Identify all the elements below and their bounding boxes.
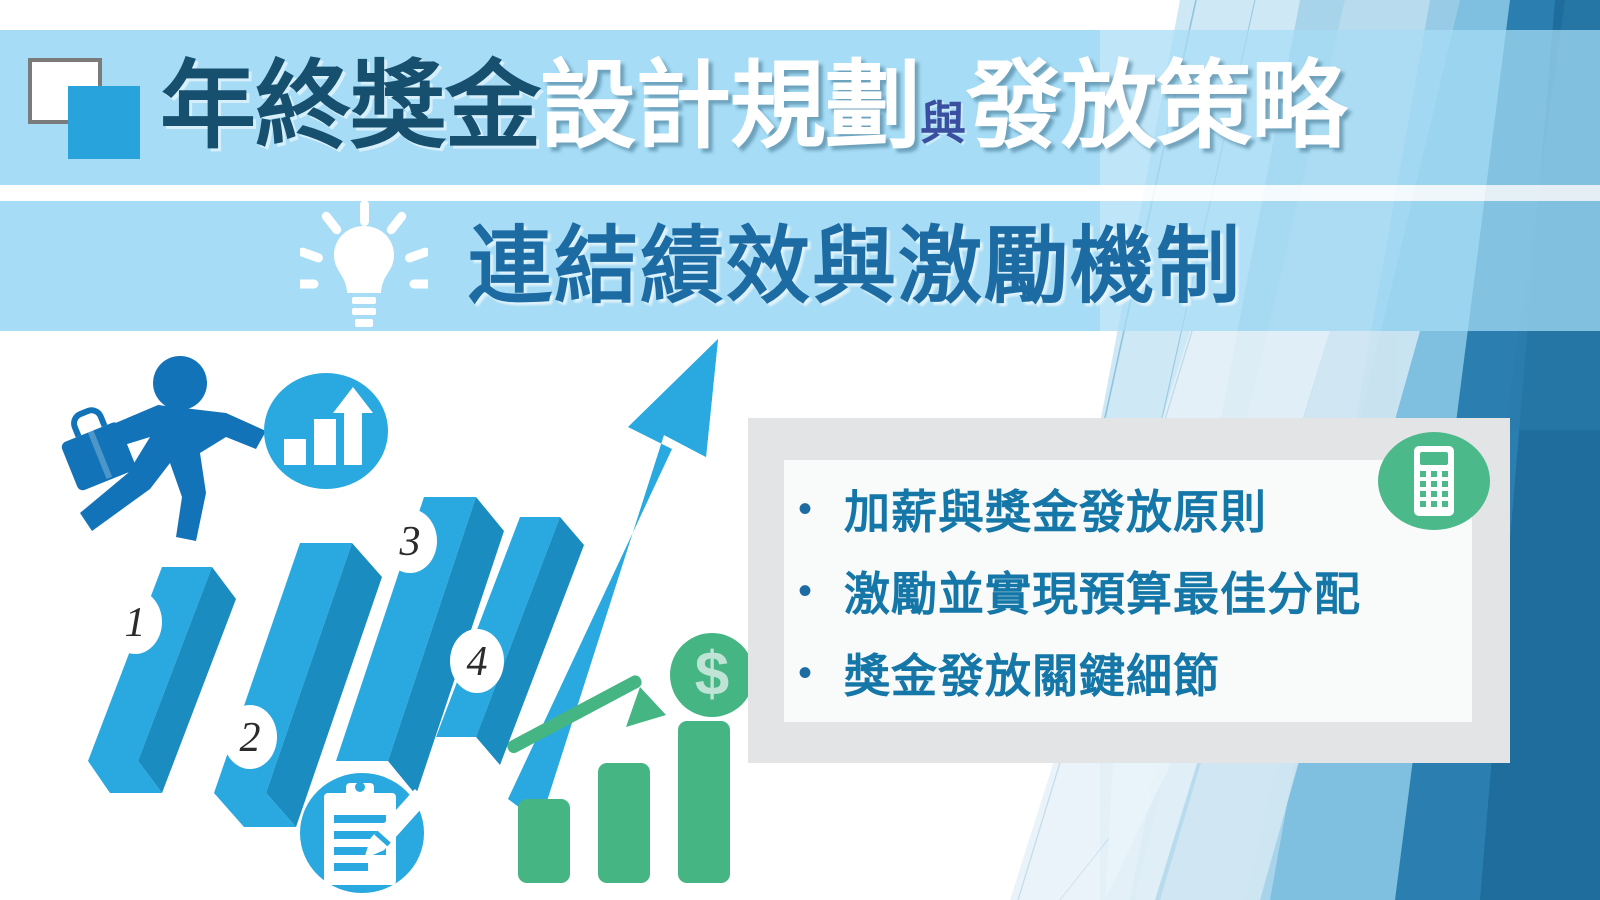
clipboard-pencil-icon xyxy=(300,773,428,893)
svg-text:3: 3 xyxy=(399,519,421,565)
calculator-icon xyxy=(1378,432,1490,530)
bullet-marker-icon: • xyxy=(790,489,844,529)
page-title: 年終獎金 設計規劃 與 發放策略 xyxy=(160,42,1346,172)
lightbulb-icon xyxy=(300,198,428,330)
title-connector: 與 xyxy=(920,100,966,146)
bar-chart-growth-icon xyxy=(264,373,388,489)
overlapping-squares-logo xyxy=(28,58,146,160)
list-item[interactable]: • 獎金發放關鍵細節 xyxy=(790,632,1490,714)
svg-text:4: 4 xyxy=(467,639,488,685)
bullet-marker-icon: • xyxy=(790,653,844,693)
svg-text:$: $ xyxy=(695,640,729,709)
svg-text:1: 1 xyxy=(125,600,146,646)
list-item-label: 激勵並實現預算最佳分配 xyxy=(844,558,1361,624)
list-item-label: 加薪與獎金發放原則 xyxy=(844,476,1267,542)
step-badge-4: 4 xyxy=(450,629,504,693)
growth-illustration: 1 2 3 4 xyxy=(0,331,780,900)
running-businessman-icon xyxy=(53,356,266,541)
title-part-2: 設計規劃 xyxy=(540,59,920,155)
title-part-3: 發放策略 xyxy=(966,59,1346,155)
step-badge-3: 3 xyxy=(383,509,437,573)
dollar-coin-icon: $ xyxy=(670,633,754,717)
logo-square-solid xyxy=(68,86,140,159)
title-part-1: 年終獎金 xyxy=(160,59,540,155)
step-badge-1: 1 xyxy=(108,590,162,654)
list-item-label: 獎金發放關鍵細節 xyxy=(844,640,1220,706)
list-item[interactable]: • 激勵並實現預算最佳分配 xyxy=(790,550,1490,632)
svg-text:2: 2 xyxy=(240,715,261,761)
step-badge-2: 2 xyxy=(223,705,277,769)
slide-canvas: 年終獎金 設計規劃 與 發放策略 連結績效與激勵機制 xyxy=(0,0,1600,900)
subtitle-text: 連結績效與激勵機制 xyxy=(468,206,1242,326)
bullet-marker-icon: • xyxy=(790,571,844,611)
